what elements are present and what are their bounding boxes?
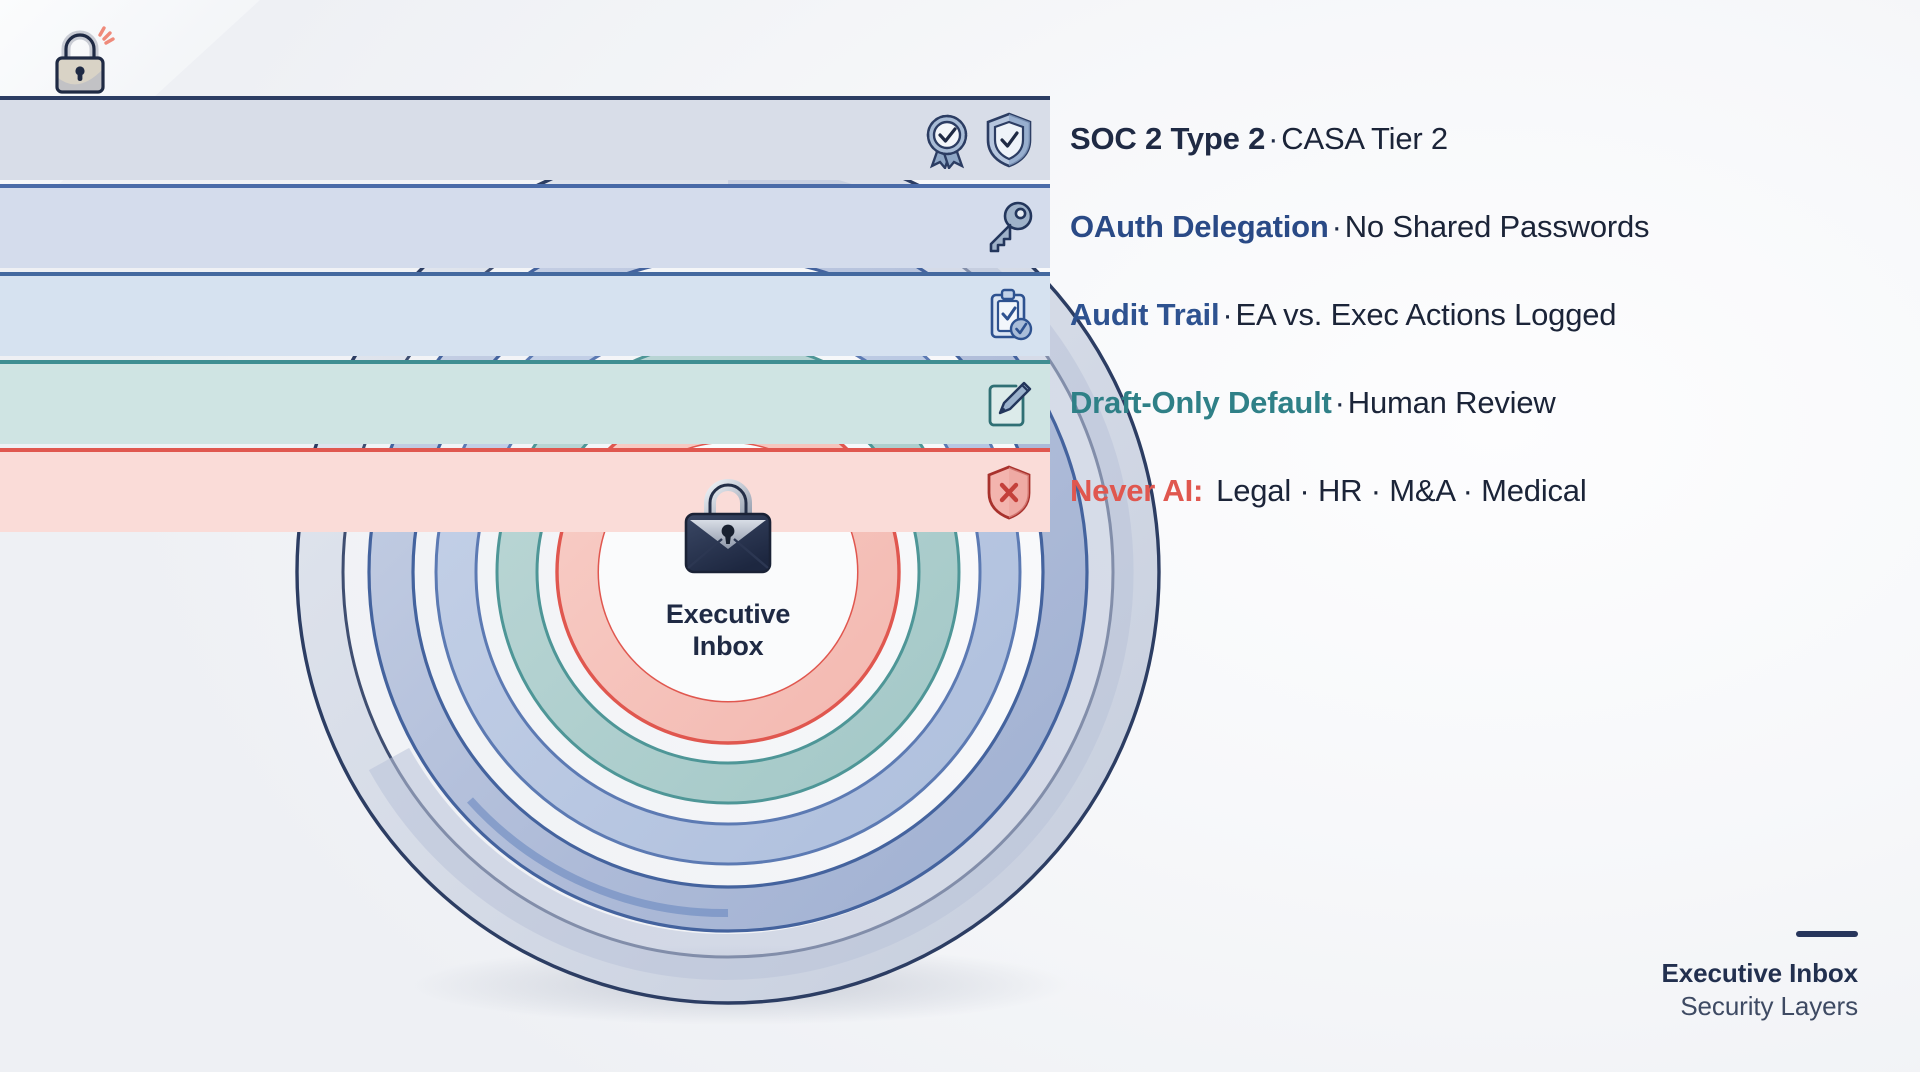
layer-2-text: OAuth Delegation·No Shared Passwords — [1070, 211, 1649, 242]
layer-5-icons — [982, 463, 1036, 521]
layer-4-icons — [982, 375, 1036, 433]
layer-4-text: Draft-Only Default·Human Review — [1070, 387, 1556, 418]
layer-4-separator: · — [1332, 385, 1348, 420]
hub-label: Executive Inbox — [666, 599, 790, 662]
layer-row-5[interactable]: Never AI:Legal · HR · M&A · Medical — [0, 448, 1920, 532]
layer-row-4[interactable]: Draft-Only Default·Human Review — [0, 360, 1920, 444]
layer-2-rest: No Shared Passwords — [1345, 209, 1650, 244]
layer-1-icons — [920, 111, 1036, 169]
layer-2-lead: OAuth Delegation — [1070, 209, 1329, 244]
shield-x-icon — [982, 463, 1036, 521]
layer-row-2[interactable]: OAuth Delegation·No Shared Passwords — [0, 184, 1920, 268]
key-icon — [982, 199, 1036, 257]
branding-rule — [1796, 931, 1858, 937]
layer-1-text: SOC 2 Type 2·CASA Tier 2 — [1070, 123, 1448, 154]
layer-3-rest: EA vs. Exec Actions Logged — [1236, 297, 1617, 332]
layer-4-rest: Human Review — [1348, 385, 1556, 420]
layer-2-separator: · — [1329, 209, 1345, 244]
layer-1-lead: SOC 2 Type 2 — [1070, 121, 1265, 156]
layer-1-separator: · — [1265, 121, 1281, 156]
layer-2-icons — [982, 199, 1036, 257]
clipboard-check-icon — [982, 287, 1036, 345]
layer-band-5 — [0, 448, 1050, 532]
layer-band-1 — [0, 96, 1050, 180]
pencil-square-icon — [982, 375, 1036, 433]
layer-band-4 — [0, 360, 1050, 444]
shield-check-icon — [982, 111, 1036, 169]
branding-block: Executive Inbox Security Layers — [1662, 931, 1858, 1022]
layer-3-separator: · — [1219, 297, 1235, 332]
layer-3-icons — [982, 287, 1036, 345]
layer-5-rest: Legal · HR · M&A · Medical — [1209, 473, 1586, 508]
hub-label-line1: Executive — [666, 599, 790, 631]
layer-row-1[interactable]: SOC 2 Type 2·CASA Tier 2 — [0, 96, 1920, 180]
layer-4-lead: Draft-Only Default — [1070, 385, 1332, 420]
layer-5-text: Never AI:Legal · HR · M&A · Medical — [1070, 475, 1587, 506]
branding-title: Executive Inbox — [1662, 957, 1858, 990]
mail-lock-icon — [674, 479, 782, 583]
layer-band-2 — [0, 184, 1050, 268]
layer-row-3[interactable]: Audit Trail·EA vs. Exec Actions Logged — [0, 272, 1920, 356]
certificate-badge-icon — [920, 111, 974, 169]
layer-3-lead: Audit Trail — [1070, 297, 1219, 332]
hub-label-line2: Inbox — [666, 631, 790, 663]
branding-subtitle: Security Layers — [1662, 990, 1858, 1023]
layer-band-3 — [0, 272, 1050, 356]
layer-3-text: Audit Trail·EA vs. Exec Actions Logged — [1070, 299, 1616, 330]
executive-inbox-hub: Executive Inbox — [593, 436, 863, 706]
layer-1-rest: CASA Tier 2 — [1281, 121, 1448, 156]
layer-5-lead: Never AI: — [1070, 473, 1203, 508]
